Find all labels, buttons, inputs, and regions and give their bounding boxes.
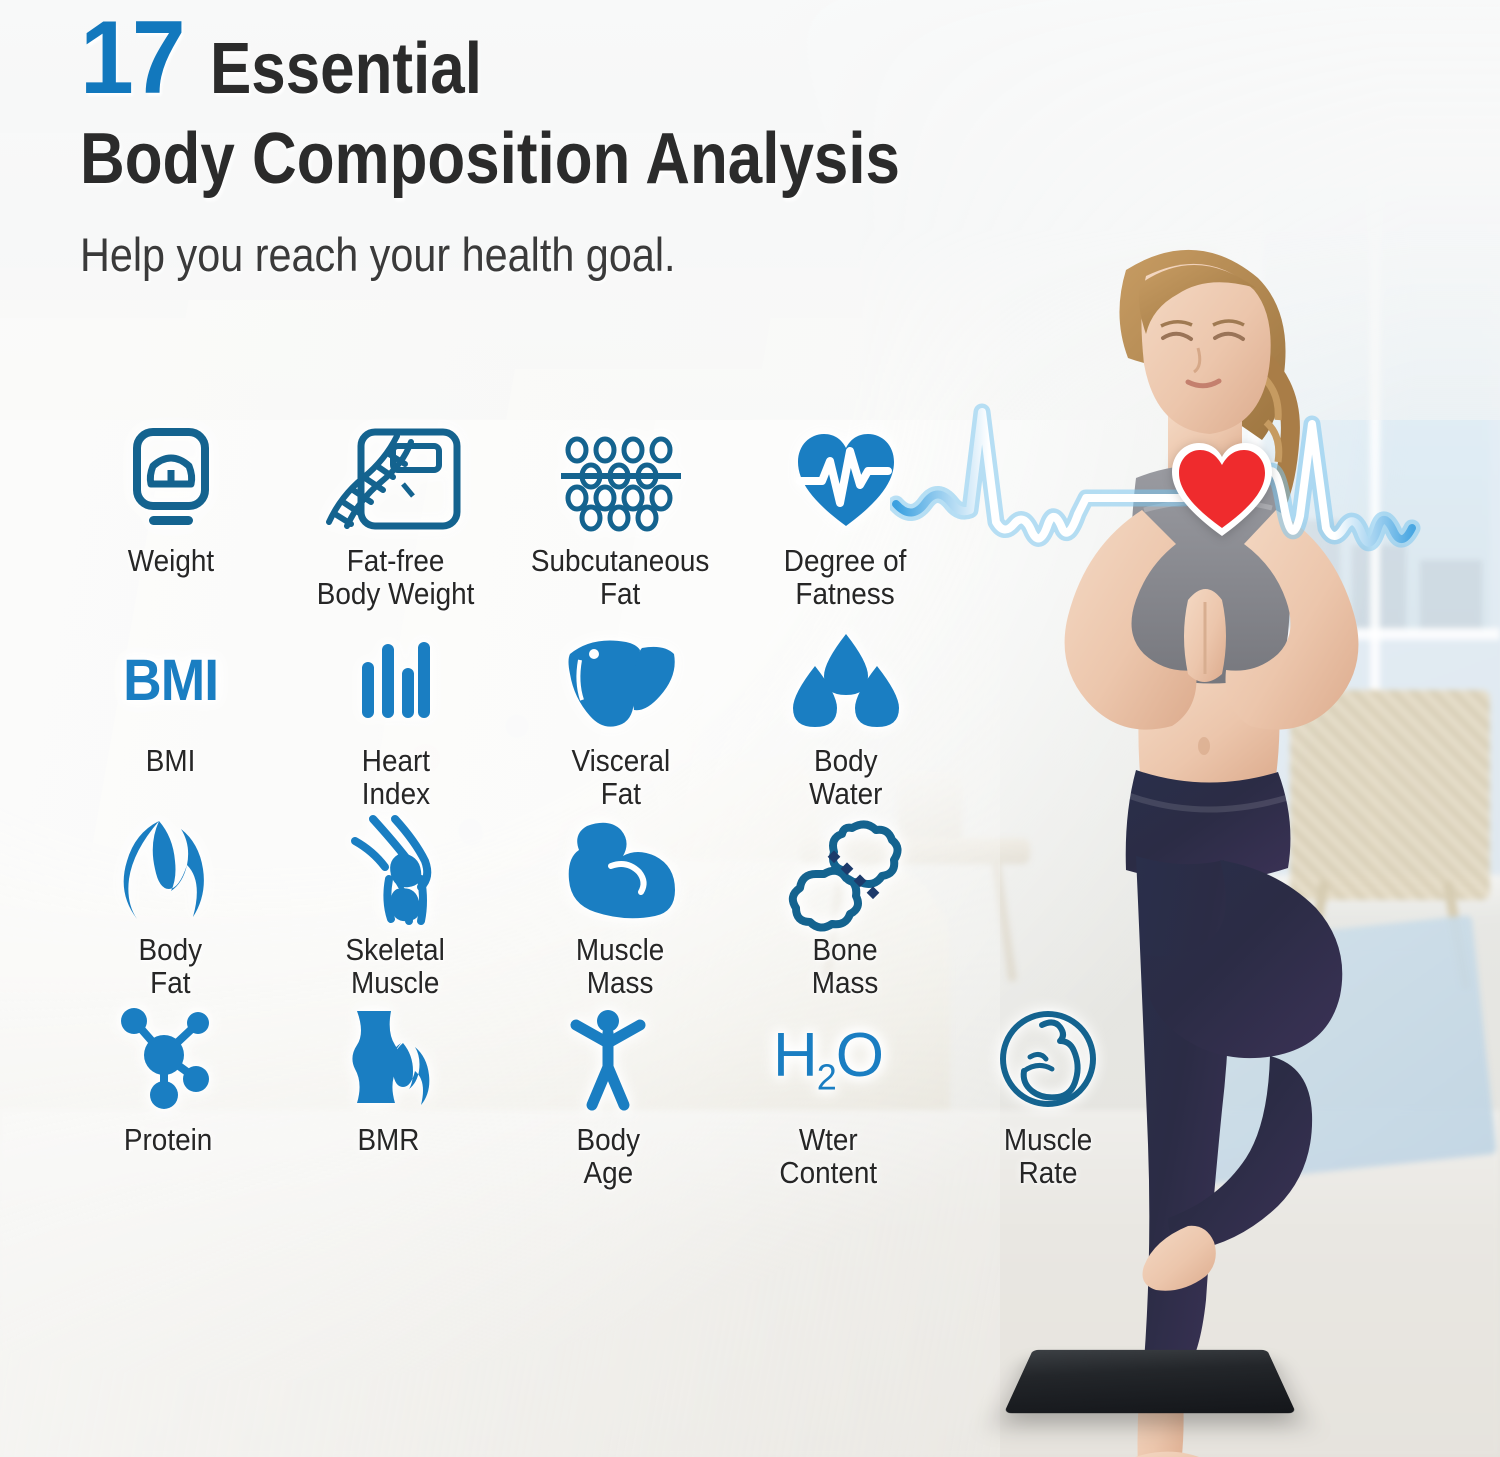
smart-scale-platform	[1004, 1350, 1296, 1413]
metric-muscle-mass: Muscle Mass	[508, 819, 733, 999]
fat-cells-icon	[559, 430, 683, 530]
knee-joint-icon	[349, 819, 443, 919]
metric-fat-free-body-weight: Fat-free Body Weight	[283, 430, 508, 610]
metric-bone-mass: Bone Mass	[733, 819, 958, 999]
bmi-text-icon: BMI	[119, 630, 222, 730]
h2o-text-icon: H2O	[773, 1009, 883, 1109]
metrics-grid: Weight Fat-free Body Weight	[48, 430, 1158, 1189]
headline-number: 17	[80, 8, 184, 110]
metric-bmr: BMR	[278, 1009, 498, 1189]
bar-chart-icon	[360, 630, 432, 730]
flexed-bicep-icon	[565, 819, 677, 919]
metric-body-age: Body Age	[498, 1009, 718, 1189]
metric-label: BMR	[357, 1123, 419, 1156]
bathroom-scale-icon	[125, 430, 217, 530]
liver-icon	[564, 630, 678, 730]
metric-label: Skeletal Muscle	[346, 933, 445, 999]
scale-dna-icon	[321, 430, 471, 530]
metric-protein: Protein	[58, 1009, 278, 1189]
metric-visceral-fat: Visceral Fat	[508, 630, 733, 810]
red-heart-icon	[1168, 440, 1276, 540]
metric-label: Fat-free Body Weight	[317, 544, 475, 610]
metric-skeletal-muscle: Skeletal Muscle	[283, 819, 508, 999]
flame-outline-icon	[125, 819, 217, 919]
metric-water-content: H2O Wter Content	[718, 1009, 938, 1189]
bone-mass-icon	[794, 819, 898, 919]
metric-label: Muscle Rate	[1004, 1123, 1092, 1189]
metric-label: Heart Index	[361, 744, 429, 810]
metric-body-fat: Body Fat	[58, 819, 283, 999]
molecule-icon	[120, 1009, 216, 1109]
metric-label: Bone Mass	[812, 933, 879, 999]
metric-label: Protein	[124, 1123, 212, 1156]
metric-label: Subcutaneous Fat	[531, 544, 709, 610]
metric-weight: Weight	[58, 430, 283, 610]
stick-figure-icon	[562, 1009, 654, 1109]
metric-heart-index: Heart Index	[283, 630, 508, 810]
metric-label: Body Water	[809, 744, 882, 810]
metric-label: Body Age	[576, 1123, 640, 1189]
metrics-row: Weight Fat-free Body Weight	[58, 430, 1158, 610]
metric-label: Degree of Fatness	[784, 544, 907, 610]
torso-flame-icon	[339, 1009, 437, 1109]
metric-degree-of-fatness: Degree of Fatness	[733, 430, 958, 610]
headline-line-2: Body Composition Analysis	[80, 122, 1043, 197]
metric-label: Wter Content	[779, 1123, 877, 1189]
heart-pulse-icon	[794, 430, 898, 530]
infographic-canvas: 17 Essential Body Composition Analysis H…	[0, 0, 1500, 1457]
bicep-circle-icon	[998, 1009, 1098, 1109]
metric-subcutaneous-fat: Subcutaneous Fat	[508, 430, 733, 610]
metric-label: Muscle Mass	[576, 933, 664, 999]
metric-bmi: BMI BMI	[58, 630, 283, 810]
headline-emphasis: Essential	[210, 33, 482, 105]
metric-body-water: Body Water	[733, 630, 958, 810]
metric-label: Weight	[127, 544, 213, 577]
metrics-row: Body Fat	[58, 819, 1158, 999]
metric-label: BMI	[146, 744, 196, 777]
headline-block: 17 Essential Body Composition Analysis H…	[80, 8, 1200, 282]
metric-label: Visceral Fat	[571, 744, 670, 810]
water-drops-icon	[793, 630, 899, 730]
metric-muscle-rate: Muscle Rate	[938, 1009, 1158, 1189]
headline-subtitle: Help you reach your health goal.	[80, 227, 1066, 282]
metrics-row: BMI BMI Heart Index	[58, 630, 1158, 810]
metric-label: Body Fat	[139, 933, 203, 999]
metrics-row: Protein BMR	[58, 1009, 1158, 1189]
